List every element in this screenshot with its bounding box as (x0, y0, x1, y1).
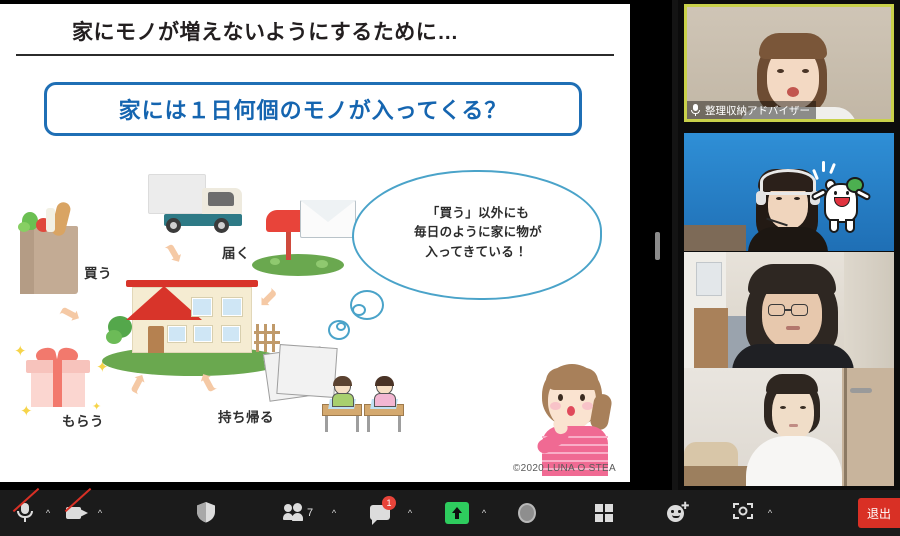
presentation-slide: 家にモノが増えないようにするために… 家には１日何個のモノが入ってくる？ (0, 4, 630, 482)
share-screen-button[interactable] (438, 490, 476, 536)
chevron-up-icon: ^ (46, 509, 50, 518)
mute-button[interactable] (6, 490, 44, 536)
share-caret[interactable]: ^ (476, 490, 492, 536)
participant-name-badge-1: 整理収納アドバイザー (687, 101, 816, 119)
video-feed-2 (684, 133, 894, 251)
breakout-rooms-button[interactable] (586, 490, 624, 536)
leave-meeting-button[interactable]: 退出 (858, 498, 900, 528)
thought-bubble-tail (336, 322, 346, 331)
thought-bubble-tail (352, 304, 366, 316)
share-screen-icon (445, 502, 469, 524)
caption-receive: もらう (62, 410, 104, 430)
thought-bubble-text: 「買う」以外にも毎日のように家に物が入ってきている ！ (360, 204, 596, 262)
participants-icon (283, 501, 305, 525)
slide-headline-box: 家には１日何個のモノが入ってくる？ (44, 82, 582, 136)
participants-count: 7 (307, 507, 313, 519)
security-button[interactable] (190, 490, 228, 536)
stage-scroll-handle[interactable] (655, 232, 660, 260)
shared-screen-stage[interactable]: 家にモノが増えないようにするために… 家には１日何個のモノが入ってくる？ (0, 0, 672, 490)
delivery-truck-illustration (148, 174, 244, 236)
chat-button[interactable]: 1 (360, 490, 402, 536)
gift-box-illustration (26, 348, 90, 410)
record-button[interactable] (508, 490, 546, 536)
chevron-up-icon: ^ (482, 509, 486, 518)
slide-copyright: ©2020 LUNA O STEA (513, 463, 616, 474)
shield-glyph (196, 501, 216, 523)
house-illustration (108, 280, 274, 372)
participants-button[interactable]: 7 (272, 490, 324, 536)
more-caret[interactable]: ^ (762, 490, 778, 536)
video-options-caret[interactable]: ^ (92, 490, 108, 536)
caption-buy: 買う (84, 262, 112, 282)
more-frame-glyph (732, 501, 754, 521)
mic-muted-icon (691, 104, 700, 116)
video-button[interactable] (58, 490, 96, 536)
video-tile-4[interactable] (684, 368, 894, 486)
shield-icon (196, 501, 222, 525)
slide-headline-text: 家には１日何個のモノが入ってくる？ (119, 93, 508, 125)
participant-filmstrip: 整理収納アドバイザー (678, 0, 900, 490)
chat-unread-badge: 1 (382, 496, 396, 510)
chevron-up-icon: ^ (332, 509, 336, 518)
envelope-illustration (300, 200, 356, 238)
grocery-bag-illustration (16, 200, 82, 296)
thinking-woman-illustration (532, 360, 620, 476)
meeting-toolbar: ^ ^ (0, 490, 900, 536)
participant-name-1: 整理収納アドバイザー (705, 103, 810, 118)
video-tile-1[interactable]: 整理収納アドバイザー (684, 4, 894, 122)
video-feed-3 (684, 252, 894, 370)
sparkle-icon: ✦ (14, 344, 27, 359)
record-circle-icon (514, 501, 540, 525)
students-at-desks-illustration (322, 374, 408, 436)
sparkle-icon: ✦ (20, 404, 33, 419)
reactions-button[interactable]: ✚ (658, 490, 696, 536)
caption-bring-home: 持ち帰る (218, 406, 274, 426)
participants-caret[interactable]: ^ (326, 490, 342, 536)
audio-options-caret[interactable]: ^ (40, 490, 56, 536)
video-tile-2[interactable] (684, 133, 894, 251)
breakout-rooms-icon (592, 501, 618, 525)
sparkle-icon: ✦ (96, 360, 109, 375)
chevron-up-icon: ^ (408, 509, 412, 518)
more-options-button[interactable] (726, 490, 764, 536)
chevron-up-icon: ^ (98, 509, 102, 518)
zoom-meeting-window: 家にモノが増えないようにするために… 家には１日何個のモノが入ってくる？ (0, 0, 900, 536)
microphone-muted-icon (12, 501, 38, 525)
video-tile-3[interactable] (684, 252, 894, 370)
flow-arrow: ➦ (55, 296, 86, 329)
flow-arrow: ➦ (158, 237, 191, 269)
video-feed-4 (684, 368, 894, 486)
chat-bubble-icon: 1 (368, 501, 394, 525)
more-frame-icon (732, 501, 758, 525)
chat-caret[interactable]: ^ (402, 490, 418, 536)
reactions-smiley-icon: ✚ (664, 501, 690, 525)
chevron-up-icon: ^ (768, 509, 772, 518)
slide-title: 家にモノが増えないようにするために… (72, 16, 459, 46)
camera-muted-icon (64, 501, 90, 525)
caption-deliver: 届く (222, 242, 250, 262)
